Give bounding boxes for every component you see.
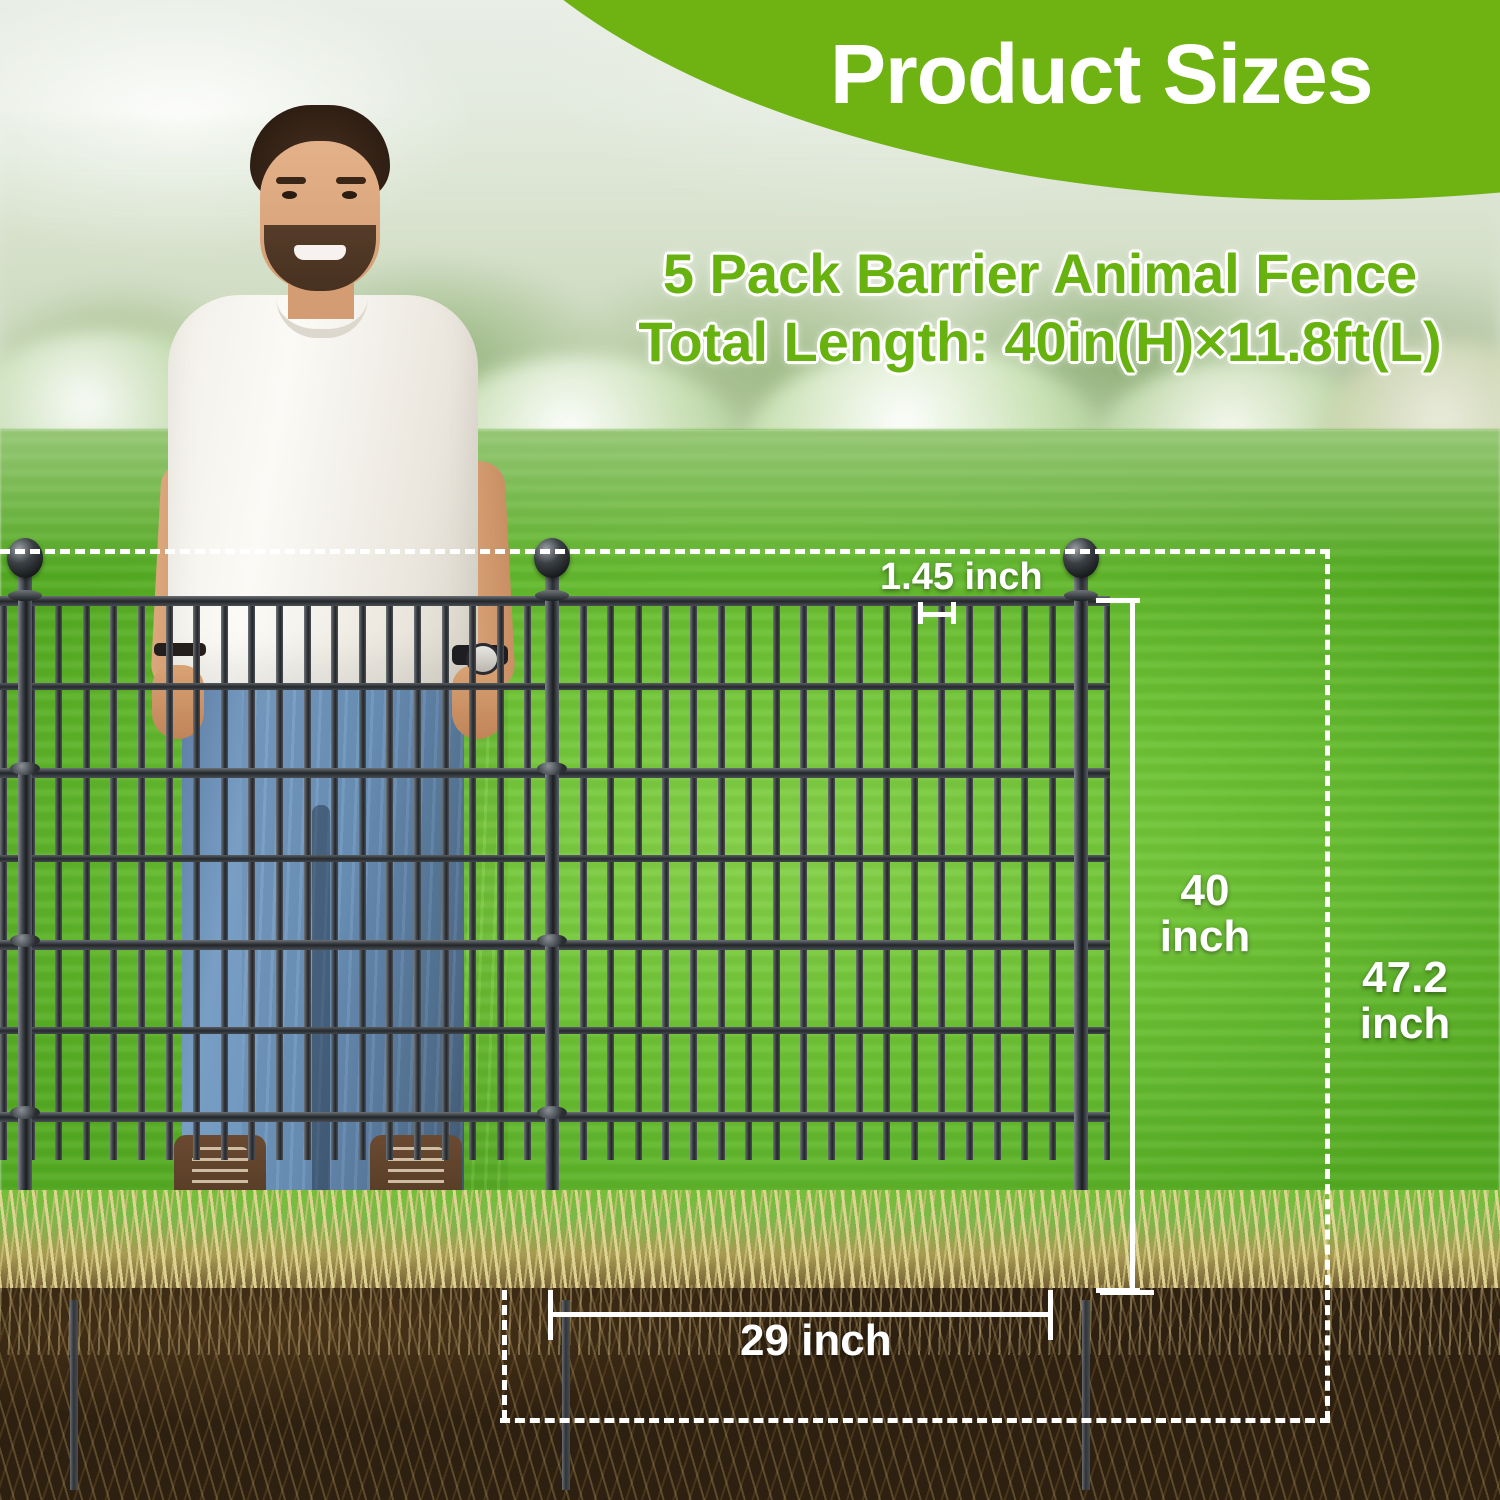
fence-bar xyxy=(745,596,752,1160)
measure-40-top-cap xyxy=(1096,598,1140,603)
product-length-line: Total Length: 40in(H)×11.8ft(L) xyxy=(590,308,1490,376)
fence-bar xyxy=(524,596,531,1160)
measure-29-left-cap xyxy=(548,1290,553,1340)
measure-145-right-cap xyxy=(951,602,956,624)
fence-bar xyxy=(800,596,807,1160)
dimension-label-total-height: 47.2 inch xyxy=(1340,955,1470,1047)
rail-clamp xyxy=(10,934,40,947)
dimension-height-unit: inch xyxy=(1160,912,1250,961)
fence-panels xyxy=(0,540,1500,1160)
eyebrow-left xyxy=(276,177,306,184)
fence-bar xyxy=(690,596,697,1160)
eye-left xyxy=(282,191,297,199)
product-name-line: 5 Pack Barrier Animal Fence xyxy=(663,242,1417,305)
product-subtitle: 5 Pack Barrier Animal Fence Total Length… xyxy=(590,240,1490,377)
fence-bar xyxy=(966,596,973,1160)
rail-clamp xyxy=(10,762,40,775)
eye-right xyxy=(342,191,357,199)
ground-stake xyxy=(562,1300,570,1490)
rail-clamp xyxy=(10,1106,40,1119)
finial-cap xyxy=(535,590,569,601)
measure-29-right-cap xyxy=(1048,1290,1053,1340)
fence-bar xyxy=(1049,596,1056,1160)
dimension-label-width: 29 inch xyxy=(740,1318,892,1364)
fence-bar xyxy=(469,596,476,1160)
fence-bar xyxy=(414,596,421,1160)
finial-cap xyxy=(1064,590,1098,601)
fence-bar xyxy=(773,596,780,1160)
fence-bar xyxy=(1021,596,1028,1160)
fence-bar xyxy=(994,596,1001,1160)
fence-bar xyxy=(110,596,117,1160)
fence-bar xyxy=(856,596,863,1160)
dimension-label-height: 40 inch xyxy=(1150,868,1260,960)
measure-472-tick xyxy=(1100,1290,1154,1295)
rail-clamp xyxy=(537,934,567,947)
dimension-line-bottom-left-tick xyxy=(502,1290,507,1420)
measure-145-left-cap xyxy=(918,602,923,624)
grass-cross-section xyxy=(0,1190,1500,1295)
fence-bar xyxy=(580,596,587,1160)
dimension-total-unit: inch xyxy=(1360,999,1450,1048)
ground-stake xyxy=(70,1300,78,1490)
ball-finial-icon xyxy=(534,538,570,578)
dimension-total-number: 47.2 xyxy=(1362,953,1448,1002)
finial-cap xyxy=(8,590,42,601)
fence-bar xyxy=(304,596,311,1160)
fence-bar xyxy=(911,596,918,1160)
fence-bar xyxy=(828,596,835,1160)
fence-bar xyxy=(718,596,725,1160)
rail-clamp xyxy=(537,1106,567,1119)
rail-clamp xyxy=(537,762,567,775)
fence-bar xyxy=(331,596,338,1160)
fence-bar xyxy=(55,596,62,1160)
mouth xyxy=(294,245,346,260)
eyebrow-right xyxy=(336,177,366,184)
fence-bar xyxy=(359,596,366,1160)
dimension-label-spacing: 1.45 inch xyxy=(880,558,1043,598)
page-title: Product Sizes xyxy=(830,32,1490,116)
ball-finial-icon xyxy=(1063,538,1099,578)
fence-bar xyxy=(662,596,669,1160)
dimension-line-bottom xyxy=(500,1418,1330,1423)
product-image: Product Sizes 5 Pack Barrier Animal Fenc… xyxy=(0,0,1500,1500)
fence-bar xyxy=(0,596,7,1160)
fence-bar xyxy=(1104,596,1110,1160)
fence-bar xyxy=(938,596,945,1160)
fence-bar xyxy=(883,596,890,1160)
fence-bar xyxy=(221,596,228,1160)
dimension-line-top xyxy=(0,549,1330,554)
fence-bar xyxy=(635,596,642,1160)
fence-bar xyxy=(83,596,90,1160)
fence-bar xyxy=(276,596,283,1160)
fence-bar xyxy=(248,596,255,1160)
fence-bar xyxy=(607,596,614,1160)
measure-40-line xyxy=(1130,598,1135,1292)
dimension-height-number: 40 xyxy=(1181,866,1230,915)
fence-bar xyxy=(386,596,393,1160)
ground-stake xyxy=(1082,1300,1090,1490)
ball-finial-icon xyxy=(7,538,43,578)
fence-bar xyxy=(497,596,504,1160)
fence-bar xyxy=(166,596,173,1160)
fence-bar xyxy=(442,596,449,1160)
fence-bar xyxy=(138,596,145,1160)
fence-bar xyxy=(193,596,200,1160)
dimension-line-right xyxy=(1325,549,1330,1421)
